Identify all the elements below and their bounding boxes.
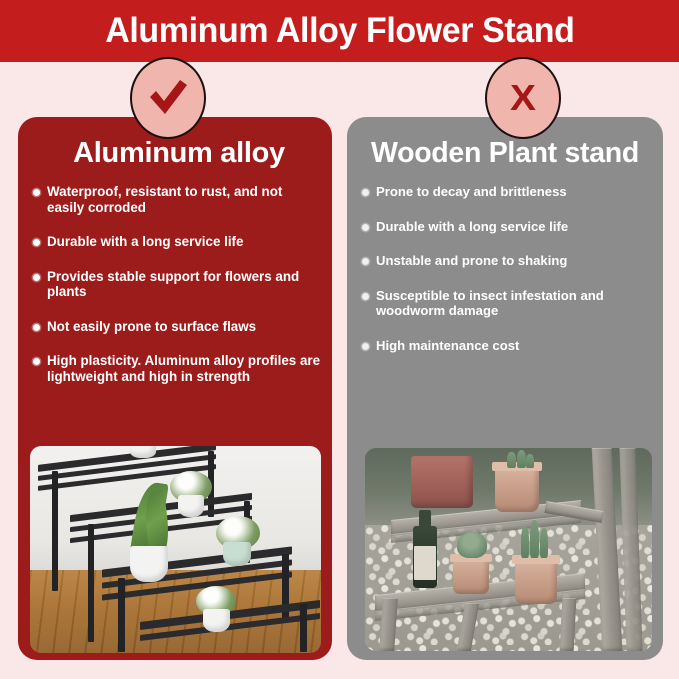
list-item: Waterproof, resistant to rust, and not e…: [32, 184, 322, 215]
list-item: Durable with a long service life: [32, 234, 322, 250]
wooden-stand-photo: [365, 448, 652, 651]
cactus-plant: [521, 526, 529, 558]
list-item: Not easily prone to surface flaws: [32, 319, 322, 335]
cactus-plant: [507, 452, 516, 468]
stand-leg: [300, 604, 307, 652]
aluminum-stand-photo: [30, 446, 321, 653]
list-item: High plasticity. Aluminum alloy profiles…: [32, 353, 322, 384]
negative-badge: X: [485, 57, 561, 139]
list-item: Provides stable support for flowers and …: [32, 269, 322, 300]
list-item: Susceptible to insect infestation and wo…: [361, 288, 653, 319]
clay-pot: [411, 456, 473, 508]
header-banner: Aluminum Alloy Flower Stand: [0, 0, 679, 62]
list-item: Unstable and prone to shaking: [361, 253, 653, 269]
stand-frame-post: [560, 598, 577, 651]
plant-pot: [130, 546, 168, 582]
terracotta-pot: [515, 558, 557, 604]
cactus-plant: [526, 454, 534, 468]
aluminum-alloy-panel-title: Aluminum alloy: [26, 137, 332, 170]
plant-pot: [130, 446, 156, 458]
wooden-stand-panel-title: Wooden Plant stand: [347, 137, 663, 170]
wooden-stand-drawbacks-list: Prone to decay and brittleness Durable w…: [347, 184, 663, 353]
cactus-plant: [540, 528, 548, 558]
aluminum-alloy-benefits-list: Waterproof, resistant to rust, and not e…: [18, 184, 332, 384]
list-item: Durable with a long service life: [361, 219, 653, 235]
bottle-label: [414, 546, 436, 580]
plant-pot: [203, 609, 230, 632]
stand-leg: [118, 578, 125, 652]
plant-pot: [178, 495, 204, 517]
stand-leg: [88, 524, 94, 642]
plant-pot: [223, 542, 251, 566]
cactus-plant: [517, 450, 526, 468]
succulent-plant: [457, 532, 487, 558]
list-item: Prone to decay and brittleness: [361, 184, 653, 200]
cross-x-icon: X: [510, 80, 536, 116]
cactus-plant: [530, 520, 539, 558]
stand-leg: [52, 471, 58, 591]
list-item: High maintenance cost: [361, 338, 653, 354]
bottle-neck: [419, 510, 431, 530]
page-title: Aluminum Alloy Flower Stand: [105, 11, 574, 51]
checkmark-icon: [146, 78, 190, 118]
terracotta-pot: [495, 464, 539, 512]
positive-badge: [130, 57, 206, 139]
